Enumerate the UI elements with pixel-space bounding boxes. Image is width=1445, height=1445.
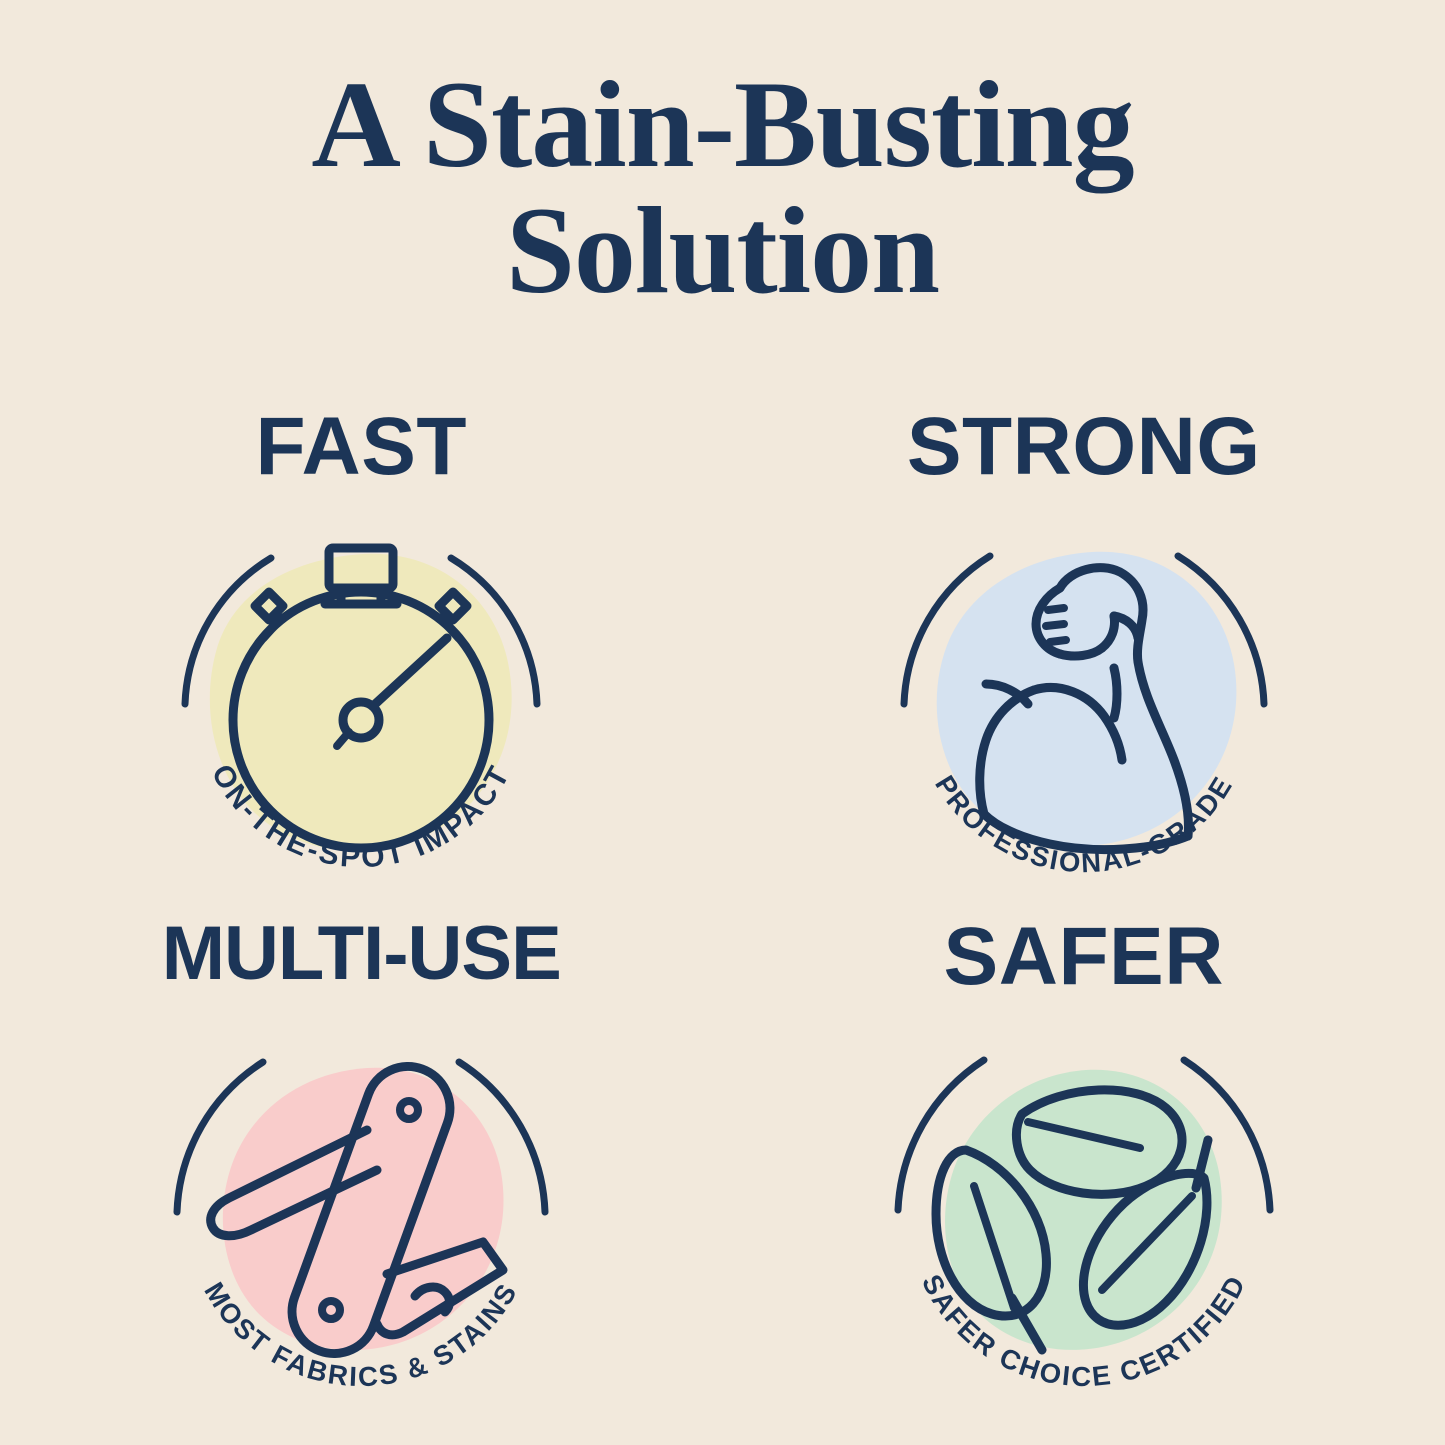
badge-art-safer: SAFER CHOICE CERTIFIED — [874, 1002, 1294, 1422]
feature-badge-fast[interactable]: FAST — [126, 406, 596, 906]
page-title: A Stain-Busting Solution — [0, 62, 1445, 315]
badge-art-strong: PROFESSIONAL-GRADE — [874, 492, 1294, 912]
badge-heading-multi-use: MULTI-USE — [126, 916, 596, 992]
title-line-1: A Stain-Busting — [0, 62, 1445, 188]
badge-art-multi-use: MOST FABRICS & STAINS — [151, 1002, 571, 1422]
title-line-2: Solution — [0, 188, 1445, 314]
badge-art-fast: ON-THE-SPOT IMPACT — [151, 492, 571, 912]
feature-badge-grid: FAST — [0, 406, 1445, 1426]
badge-heading-strong: STRONG — [849, 406, 1319, 488]
badge-cell-strong: STRONG — [723, 406, 1445, 916]
badge-cell-safer: SAFER — [723, 916, 1445, 1426]
badge-heading-fast: FAST — [126, 406, 596, 488]
badge-cell-multi-use: MULTI-USE — [0, 916, 723, 1426]
badge-cell-fast: FAST — [0, 406, 723, 916]
badge-heading-safer: SAFER — [849, 916, 1319, 998]
infographic-page: A Stain-Busting Solution FAST — [0, 0, 1445, 1445]
feature-badge-safer[interactable]: SAFER — [849, 916, 1319, 1416]
feature-badge-strong[interactable]: STRONG — [849, 406, 1319, 906]
feature-badge-multi-use[interactable]: MULTI-USE — [126, 916, 596, 1416]
